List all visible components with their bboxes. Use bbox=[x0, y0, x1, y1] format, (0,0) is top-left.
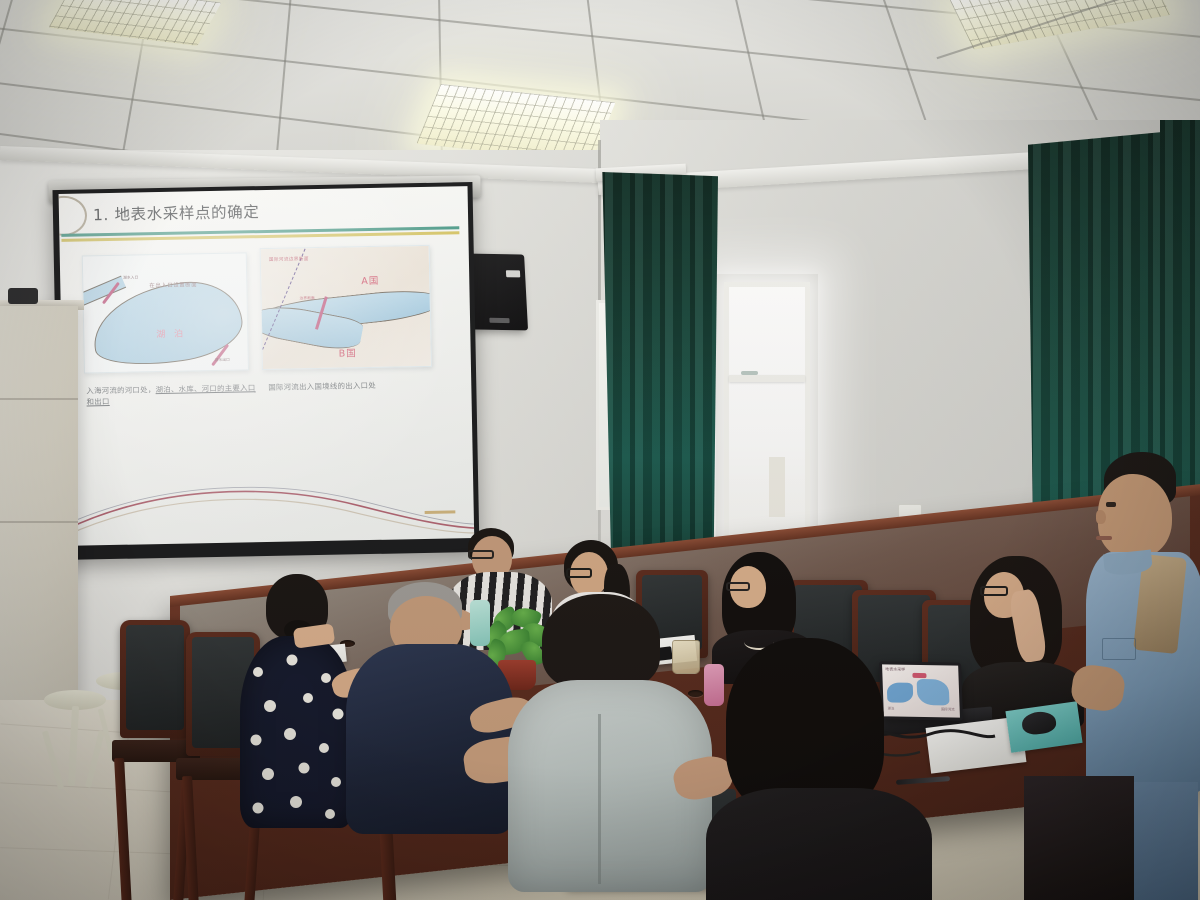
country-b-label: B国 bbox=[339, 345, 357, 359]
slide-decor-swoosh bbox=[64, 470, 474, 542]
person-attendee-grey-blouse bbox=[508, 594, 714, 894]
slide-diagram-river: 边界断面 国际河流边界断面 A国 B国 bbox=[260, 245, 432, 370]
slide-title: 1. 地表水采样点的确定 bbox=[93, 200, 260, 225]
lake-note: 在出入口设置断面 bbox=[149, 280, 197, 289]
slide-caption-right: 国际河流出入国境线的出入口处 bbox=[268, 380, 388, 394]
podium-device[interactable] bbox=[8, 288, 38, 304]
lake-water-label: 湖 泊 bbox=[156, 327, 186, 341]
window-mullion bbox=[729, 375, 805, 382]
caption-left-part-a: 入海河流的河口处， bbox=[86, 385, 155, 395]
conference-room-photo: ReHot 1. 地表水采样点的确定 湖水入口 湖水出口 在出入口设置断面 湖 bbox=[0, 0, 1200, 900]
person-attendee-floral-dress bbox=[236, 574, 358, 834]
lake-outlet-label: 湖水出口 bbox=[215, 358, 230, 363]
dark-top bbox=[706, 788, 932, 900]
glasses-icon bbox=[566, 568, 592, 578]
slide-caption-left: 入海河流的河口处，湖泊、水库、河口的主要入口和出口 bbox=[86, 382, 256, 408]
mouth bbox=[1096, 536, 1112, 540]
window-latch[interactable] bbox=[741, 371, 758, 375]
person-attendee-long-hair bbox=[706, 638, 936, 900]
wall-speaker bbox=[468, 254, 528, 331]
glasses-icon bbox=[980, 586, 1008, 596]
river-panel-title: 国际河流边界断面 bbox=[269, 256, 309, 263]
blouse-seam bbox=[598, 714, 601, 884]
projector-screen: ReHot 1. 地表水采样点的确定 湖水入口 湖水出口 在出入口设置断面 湖 bbox=[52, 182, 479, 560]
laptop-caption-right: 国际河流 bbox=[941, 706, 955, 711]
window-exterior-wall bbox=[769, 457, 785, 517]
nose bbox=[1096, 510, 1106, 524]
border-cut-label: 边界断面 bbox=[300, 296, 315, 301]
eye bbox=[1106, 502, 1116, 507]
slide-content: 1. 地表水采样点的确定 湖水入口 湖水出口 在出入口设置断面 湖 泊 bbox=[59, 186, 475, 546]
floral-pattern bbox=[240, 636, 354, 828]
glasses-icon bbox=[726, 582, 750, 591]
slide-diagram-lake: 湖水入口 湖水出口 在出入口设置断面 湖 泊 bbox=[82, 252, 249, 373]
country-a-label: A国 bbox=[361, 273, 379, 287]
screen-surface: 1. 地表水采样点的确定 湖水入口 湖水出口 在出入口设置断面 湖 泊 bbox=[59, 186, 475, 546]
lake-inlet-label: 湖水入口 bbox=[123, 275, 138, 280]
speaker-logo bbox=[489, 318, 509, 323]
speaker-badge bbox=[506, 270, 520, 277]
slide-decor-ring bbox=[59, 195, 88, 236]
curtain-left[interactable] bbox=[600, 172, 718, 592]
foreground-bag bbox=[1024, 776, 1134, 900]
person-attendee-navy-polo bbox=[346, 582, 516, 842]
glasses-icon bbox=[468, 550, 494, 559]
shirt-pocket bbox=[1102, 638, 1136, 660]
